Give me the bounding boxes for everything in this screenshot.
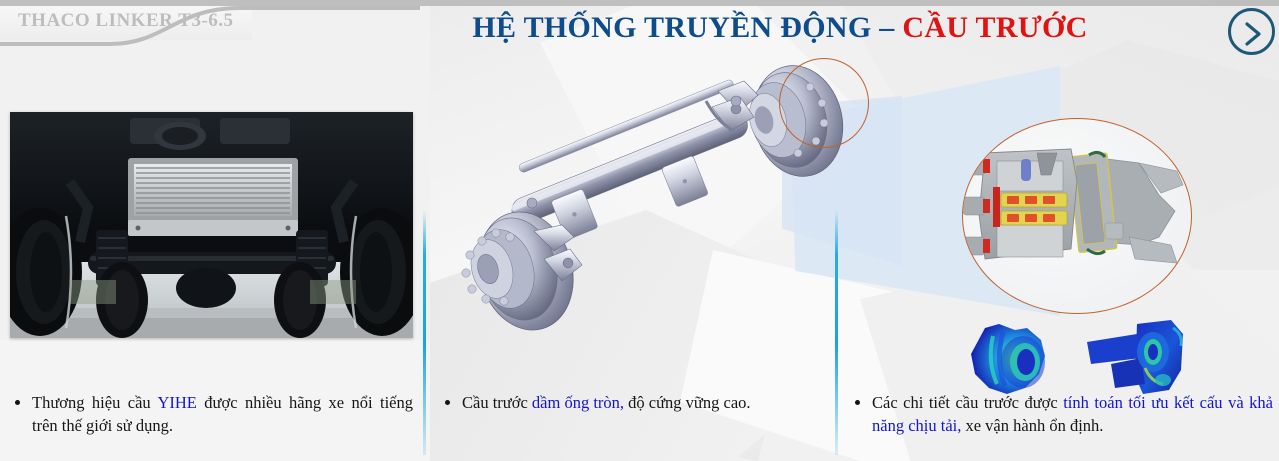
hub-cutaway-detail-circle: [962, 118, 1192, 314]
slide-root: THACO LINKER T3-6.5 HỆ THỐNG TRUYỀN ĐỘNG…: [0, 0, 1279, 461]
bullet-2-part-0: Cầu trước: [462, 393, 532, 412]
bullet-2-part-2: độ cứng vững cao.: [624, 393, 750, 412]
fea-stress-analysis-hub: [965, 322, 1057, 398]
brand-title: THACO LINKER T3-6.5: [18, 10, 234, 32]
bullet-1-part-1: YIHE: [157, 393, 196, 412]
bullet-3-part-2: xe vận hành ổn định.: [961, 416, 1103, 435]
title-segment-blue: HỆ THỐNG TRUYỀN ĐỘNG: [472, 11, 879, 44]
title-segment-red: CẦU TRƯỚC: [902, 11, 1087, 44]
next-slide-button[interactable]: [1228, 8, 1275, 55]
page-title: HỆ THỐNG TRUYỀN ĐỘNG – CẦU TRƯỚC: [430, 8, 1130, 48]
magnifier-source-circle: [779, 58, 869, 148]
bullet-item-3: Các chi tiết cầu trước được tính toán tố…: [848, 391, 1273, 437]
bullet-item-1: Thương hiệu cầu YIHE được nhiều hãng xe …: [8, 391, 413, 437]
bullet-column-3: Các chi tiết cầu trước được tính toán tố…: [848, 391, 1273, 437]
bullet-1-part-0: Thương hiệu cầu: [32, 393, 157, 412]
bullet-item-2: Cầu trước dầm ống tròn, độ cứng vững cao…: [438, 391, 828, 414]
chevron-right-icon: [1244, 22, 1264, 46]
bullet-column-1: Thương hiệu cầu YIHE được nhiều hãng xe …: [8, 391, 413, 437]
truck-chassis-underside-photo: [10, 112, 413, 338]
bullet-2-part-1: dầm ống tròn,: [532, 393, 624, 412]
title-segment-dash: –: [879, 11, 902, 44]
fea-stress-analysis-knuckle: [1085, 318, 1195, 398]
bullet-3-part-0: Các chi tiết cầu trước được: [872, 393, 1063, 412]
bullet-columns: Thương hiệu cầu YIHE được nhiều hãng xe …: [0, 391, 1279, 453]
bullet-column-2: Cầu trước dầm ống tròn, độ cứng vững cao…: [438, 391, 828, 414]
